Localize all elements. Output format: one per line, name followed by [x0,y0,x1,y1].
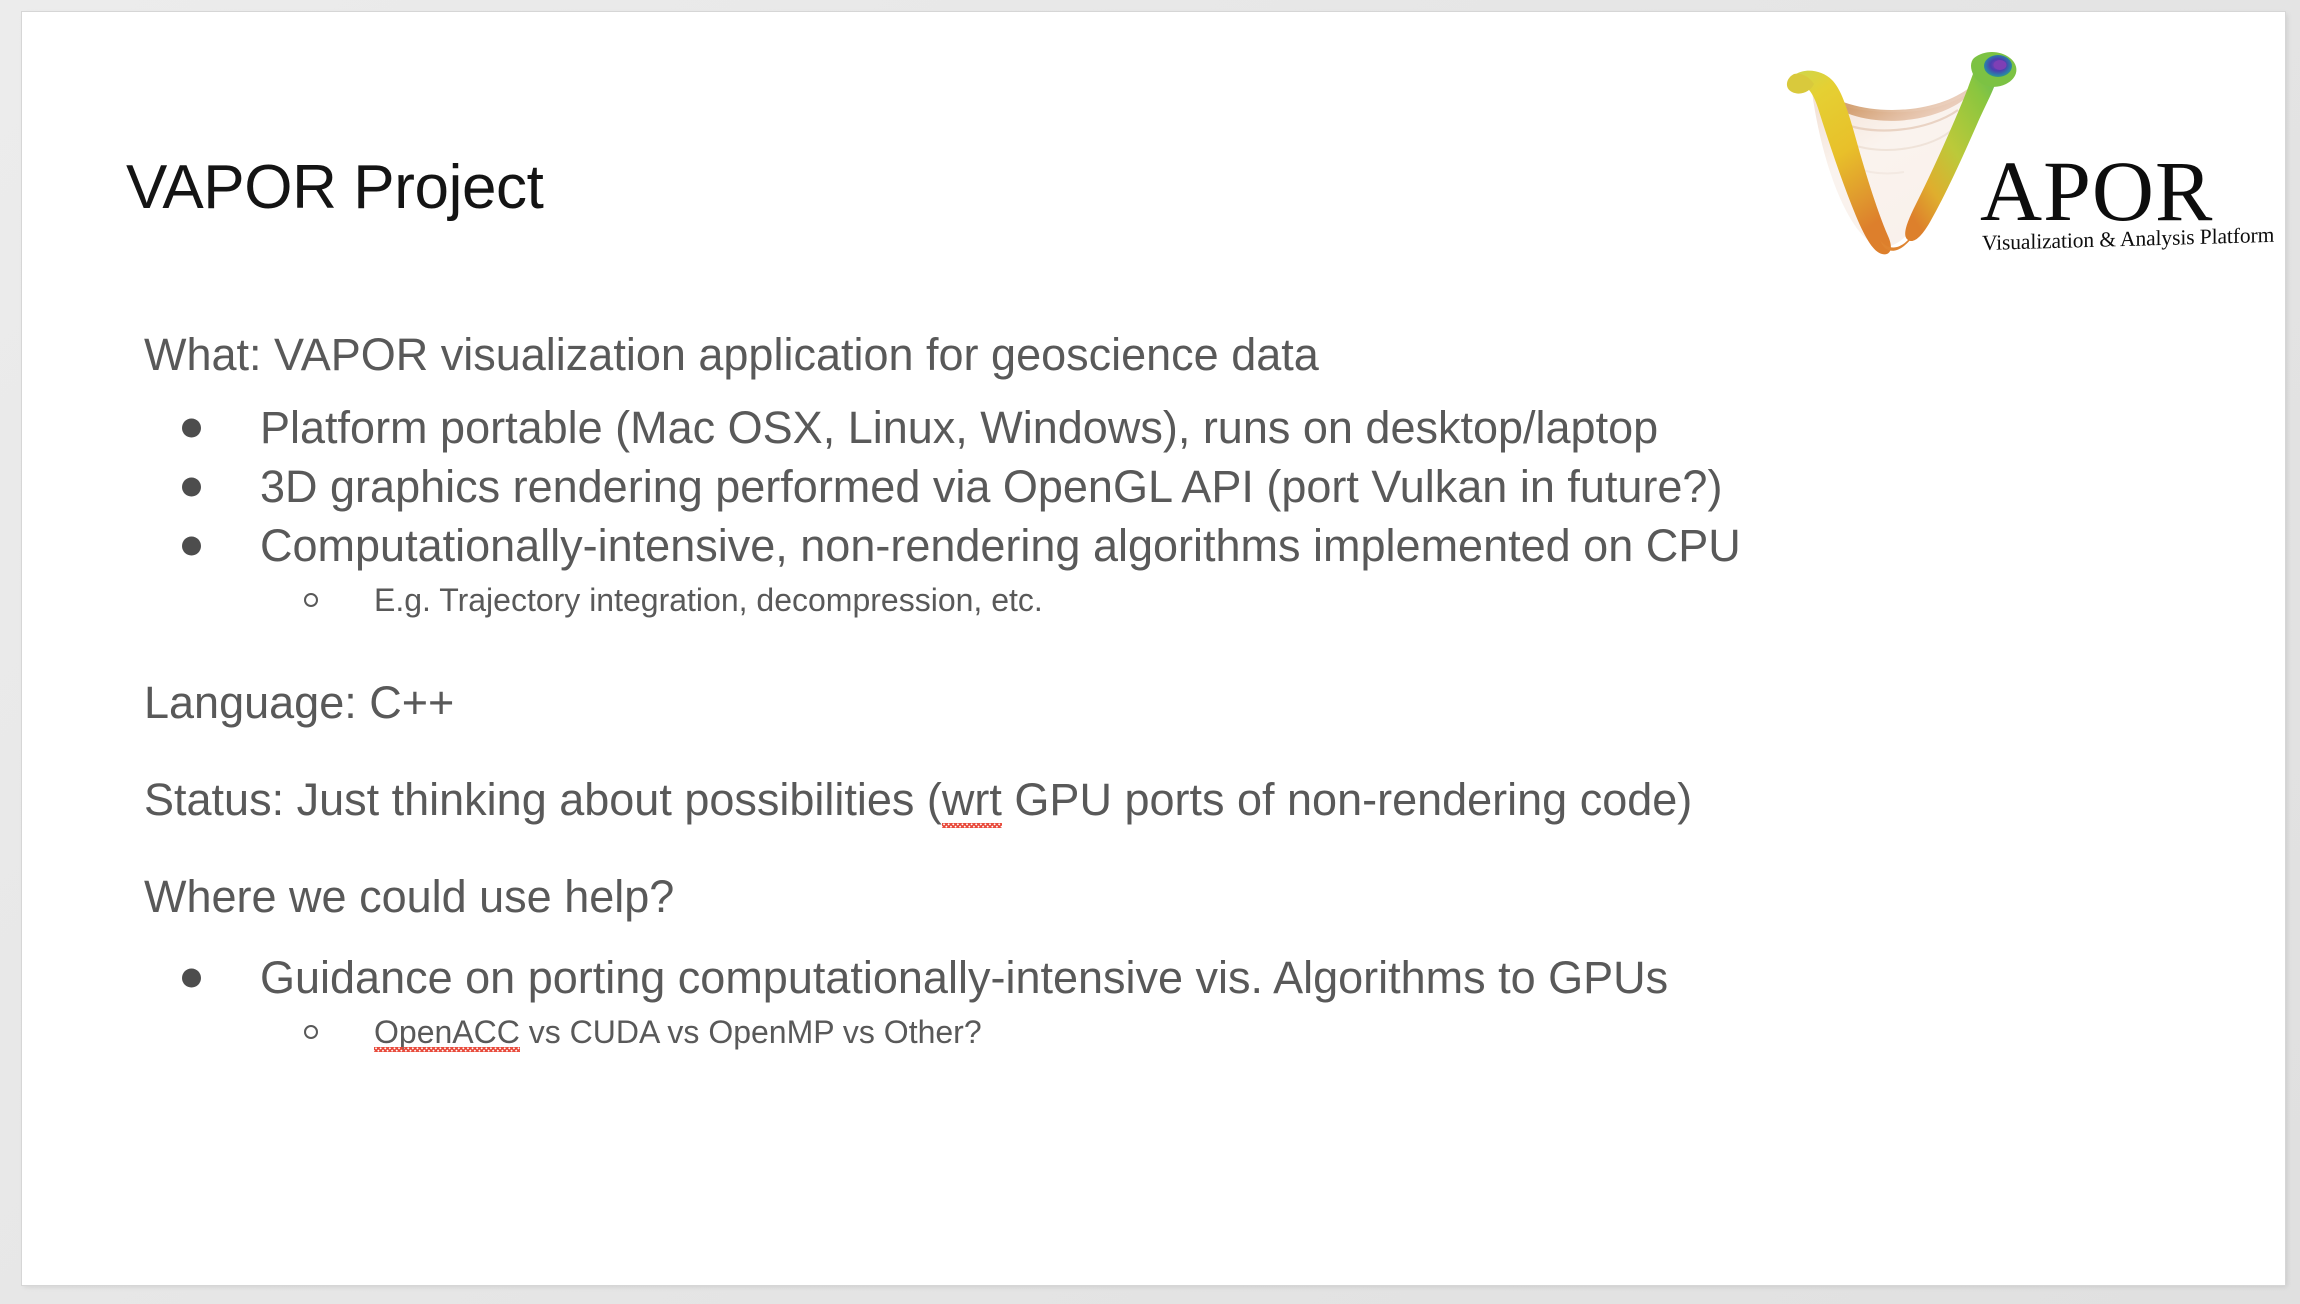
language-line: Language: C++ [144,680,2204,725]
bullet-list-help: Guidance on porting computationally-inte… [144,955,2204,1048]
list-item: Computationally-intensive, non-rendering… [144,523,2204,568]
page-title: VAPOR Project [126,157,543,219]
logo-eye-core [1994,60,2007,70]
status-line-suffix: GPU ports of non-rendering code) [1002,774,1692,825]
list-item-label: 3D graphics rendering performed via Open… [260,461,1722,512]
status-line: Status: Just thinking about possibilitie… [144,777,2204,822]
logo-apor-text: APOR [1980,152,2280,231]
bullet-filled-icon [182,418,201,437]
bullet-hollow-icon [304,1025,318,1039]
logo-tagline-text: Visualization & Analysis Platform [1982,225,2280,255]
list-item-label: Platform portable (Mac OSX, Linux, Windo… [260,402,1658,453]
list-item-label: Computationally-intensive, non-rendering… [260,520,1741,571]
bullet-list-what: Platform portable (Mac OSX, Linux, Windo… [144,405,2204,616]
list-item: Platform portable (Mac OSX, Linux, Windo… [144,405,2204,450]
presentation-slide: VAPOR Project [22,12,2285,1285]
bullet-filled-icon [182,536,201,555]
logo-wordmark: APOR Visualization & Analysis Platform [1980,152,2280,255]
sub-list-item-label: vs CUDA vs OpenMP vs Other? [520,1014,982,1050]
bullet-hollow-icon [304,593,318,607]
sub-list-item: OpenACC vs CUDA vs OpenMP vs Other? [144,1016,2204,1048]
list-item-label: Guidance on porting computationally-inte… [260,952,1668,1003]
slide-body: What: VAPOR visualization application fo… [144,332,2204,1048]
list-item: Guidance on porting computationally-inte… [144,955,2204,1000]
bullet-filled-icon [182,477,201,496]
sub-list-item-label: E.g. Trajectory integration, decompressi… [374,582,1043,618]
sub-list-item: E.g. Trajectory integration, decompressi… [144,584,2204,616]
status-misspelled-word: wrt [942,777,1002,822]
status-line-prefix: Status: Just thinking about possibilitie… [144,774,942,825]
list-item: 3D graphics rendering performed via Open… [144,464,2204,509]
sub-list-misspelled-word: OpenACC [374,1016,520,1048]
where-line: Where we could use help? [144,874,2204,919]
screenshot-canvas: VAPOR Project [0,0,2300,1304]
vapor-logo: APOR Visualization & Analysis Platform [1784,44,2274,264]
bullet-filled-icon [182,968,201,987]
what-line: What: VAPOR visualization application fo… [144,332,2204,377]
